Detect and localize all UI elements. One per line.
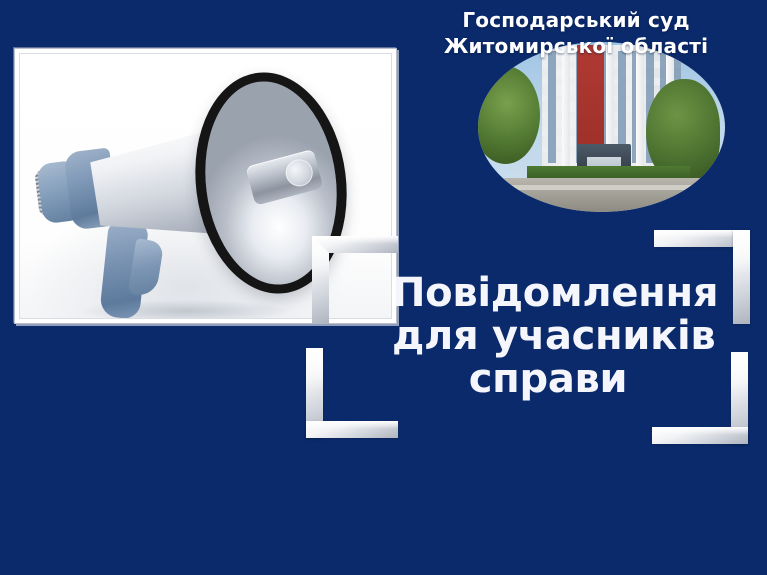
court-name-line-1: Господарський суд [396, 8, 756, 34]
corner-bracket-bottom-left-icon [306, 348, 398, 438]
building-pillar [636, 45, 644, 171]
bracket-arm-horizontal [306, 421, 398, 438]
ground-pavement [478, 178, 725, 212]
slide-title-line-3: справи [392, 358, 704, 401]
court-name-header: Господарський суд Житомирської області [396, 8, 756, 59]
megaphone-driver [245, 149, 323, 206]
court-name-line-2: Житомирської області [396, 34, 756, 60]
building-red-panel [577, 45, 604, 157]
building-pillar [562, 45, 570, 171]
slide-title-line-2: для учасників [392, 315, 704, 358]
presentation-slide: Господарський суд Житомирської області П… [0, 0, 767, 575]
bracket-arm-horizontal [652, 427, 748, 444]
slide-title: Повідомлення для учасників справи [392, 272, 704, 400]
curb-line [478, 185, 725, 190]
slide-title-line-1: Повідомлення [392, 272, 704, 315]
corner-bracket-top-left-icon [312, 236, 398, 324]
court-building-photo [478, 42, 725, 212]
bracket-arm-vertical [733, 230, 750, 324]
